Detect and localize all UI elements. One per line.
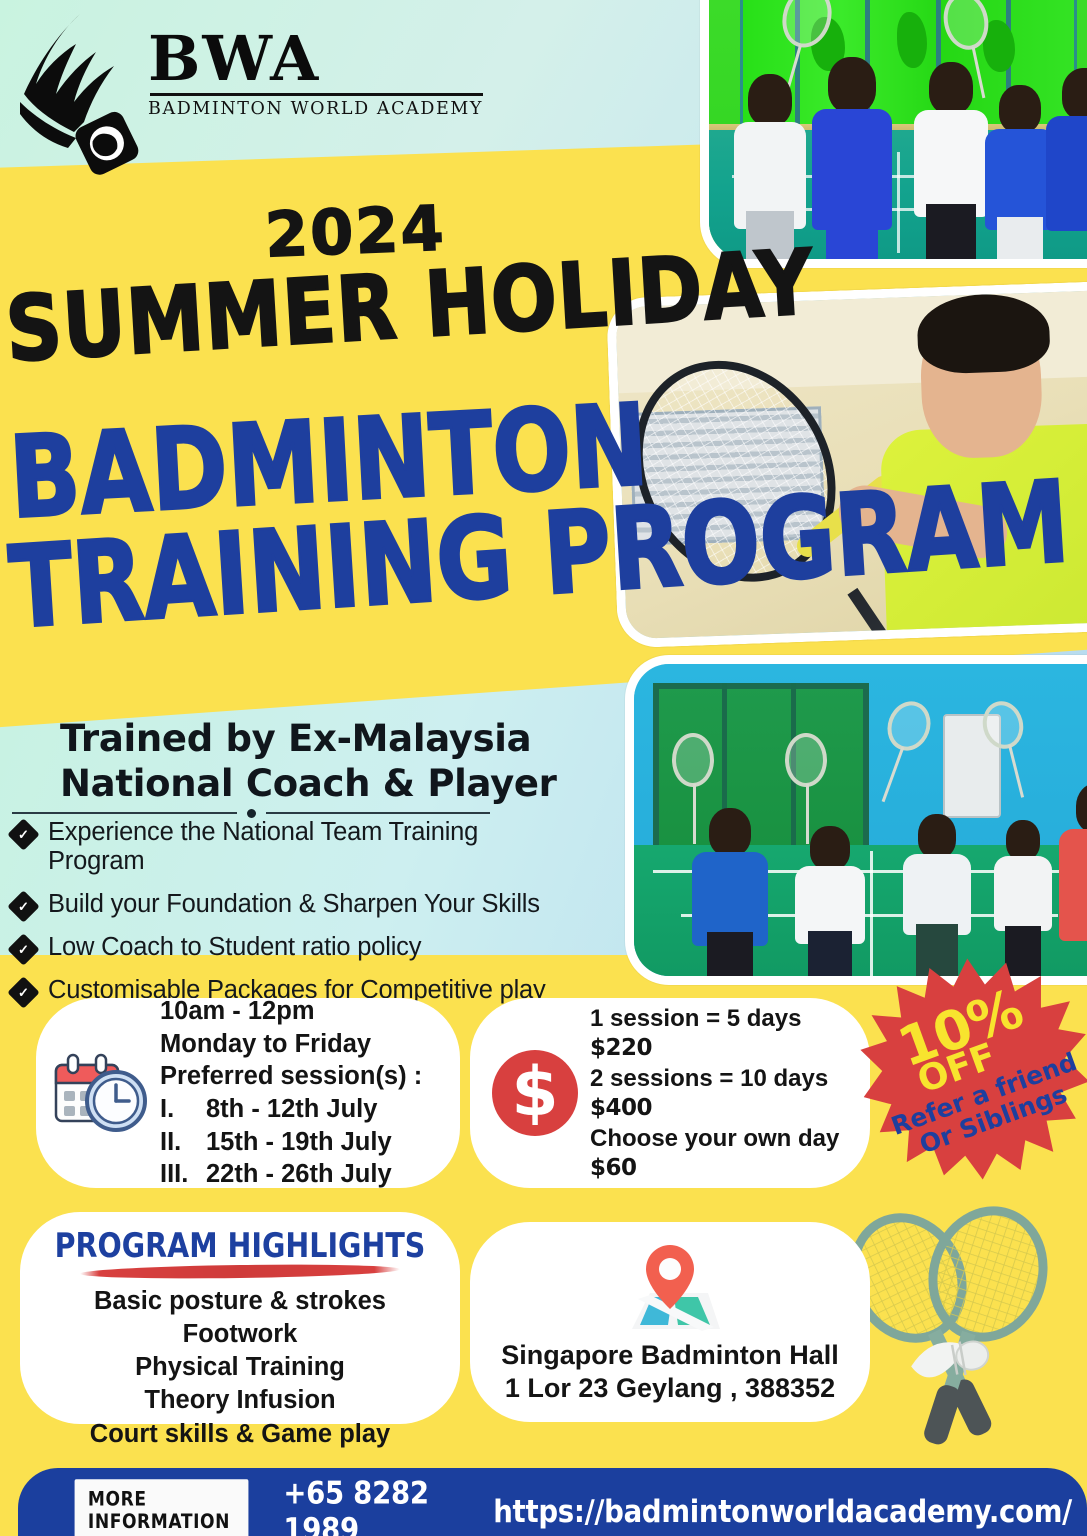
logo-acronym: BWA — [148, 30, 483, 89]
schedule-prompt: Preferred session(s) : — [160, 1060, 422, 1093]
highlight-item: Court skills & Game play — [20, 1418, 460, 1451]
session-row: I.8th - 12th July — [160, 1093, 422, 1126]
list-item: Build your Foundation & Sharpen Your Ski… — [12, 890, 572, 919]
schedule-days: Monday to Friday — [160, 1028, 422, 1061]
schedule-text: 10am - 12pm Monday to Friday Preferred s… — [160, 995, 422, 1191]
location-card: Singapore Badminton Hall 1 Lor 23 Geylan… — [470, 1222, 870, 1422]
footer-website-link[interactable]: https://badmintonworldacademy.com/ — [493, 1493, 1072, 1530]
price-amount: $400 — [590, 1094, 839, 1123]
price-amount: $220 — [590, 1034, 839, 1063]
check-diamond-icon — [7, 890, 40, 923]
highlight-item: Footwork — [20, 1318, 460, 1351]
feature-label: Build your Foundation & Sharpen Your Ski… — [48, 890, 540, 919]
photo-kids-training — [700, 0, 1087, 268]
feature-label: Experience the National Team Training Pr… — [48, 818, 572, 876]
location-venue: Singapore Badminton Hall — [470, 1339, 870, 1372]
subheadline: Trained by Ex-Malaysia National Coach & … — [60, 716, 557, 806]
schedule-time: 10am - 12pm — [160, 995, 422, 1028]
feature-list: Experience the National Team Training Pr… — [12, 818, 572, 1019]
list-item: Low Coach to Student ratio policy — [12, 933, 572, 962]
footer-phone[interactable]: +65 8282 1989 — [284, 1474, 448, 1536]
poster-root: BWA BADMINTON WORLD ACADEMY 2024 SUMMER … — [0, 0, 1087, 1536]
pricing-card: $ 1 session = 5 days $220 2 sessions = 1… — [470, 998, 870, 1188]
session-row: II.15th - 19th July — [160, 1126, 422, 1159]
schedule-card: 10am - 12pm Monday to Friday Preferred s… — [36, 998, 460, 1188]
highlights-card: PROGRAM HIGHLIGHTS Basic posture & strok… — [20, 1212, 460, 1424]
subheadline-line1: Trained by Ex-Malaysia — [60, 716, 557, 761]
map-pin-icon — [610, 1239, 730, 1335]
brand-logo: BWA BADMINTON WORLD ACADEMY — [10, 6, 483, 176]
feature-label: Low Coach to Student ratio policy — [48, 933, 421, 962]
footer-bar: MORE INFORMATION +65 8282 1989 https://b… — [18, 1468, 1087, 1536]
price-amount: $60 — [590, 1154, 839, 1183]
logo-name: BADMINTON WORLD ACADEMY — [148, 99, 483, 119]
discount-badge: 10% OFF Refer a friend Or Siblings — [854, 947, 1087, 1190]
check-diamond-icon — [7, 976, 40, 1009]
location-address: 1 Lor 23 Geylang , 388352 — [470, 1372, 870, 1405]
calendar-clock-icon — [54, 1051, 150, 1135]
session-row: III.22th - 26th July — [160, 1158, 422, 1191]
highlight-item: Basic posture & strokes — [20, 1285, 460, 1318]
dollar-coin-icon: $ — [492, 1050, 578, 1136]
price-label: Choose your own day — [590, 1123, 839, 1154]
check-diamond-icon — [7, 818, 40, 851]
divider-dot — [247, 809, 256, 818]
check-diamond-icon — [7, 933, 40, 966]
highlights-list: Basic posture & strokes Footwork Physica… — [20, 1285, 460, 1451]
subheadline-line2: National Coach & Player — [60, 761, 557, 806]
price-label: 1 session = 5 days — [590, 1003, 839, 1034]
more-information-label: MORE INFORMATION — [75, 1479, 249, 1536]
crossed-rackets-shuttlecock-graphic — [838, 1188, 1087, 1458]
highlights-title: PROGRAM HIGHLIGHTS — [38, 1226, 443, 1266]
list-item: Experience the National Team Training Pr… — [12, 818, 572, 876]
highlight-item: Physical Training — [20, 1351, 460, 1384]
highlight-item: Theory Infusion — [20, 1384, 460, 1417]
pricing-list: 1 session = 5 days $220 2 sessions = 10 … — [590, 1003, 839, 1183]
shuttlecock-wing-logo-icon — [10, 6, 140, 176]
price-label: 2 sessions = 10 days — [590, 1063, 839, 1094]
